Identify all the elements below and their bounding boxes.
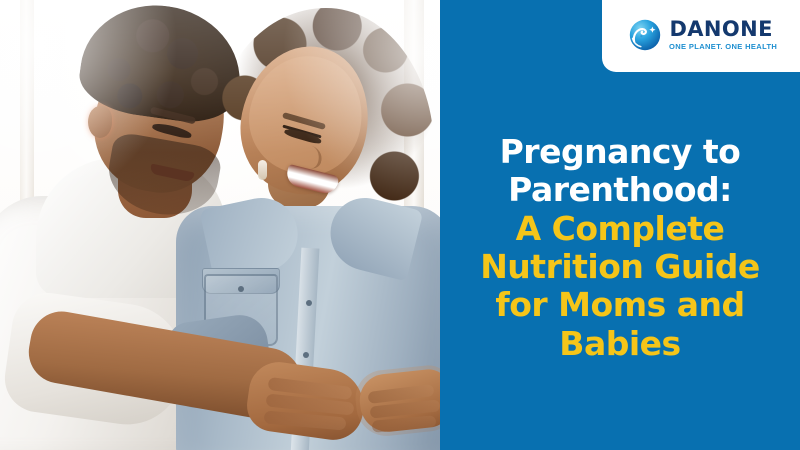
headline-line-5: for Moms and — [454, 286, 786, 324]
man-ear — [88, 106, 112, 138]
globe-icon — [628, 18, 662, 52]
headline-line-2: Parenthood: — [454, 171, 786, 209]
headline-line-4: Nutrition Guide — [454, 248, 786, 286]
headline-line-3: A Complete — [454, 210, 786, 248]
logo-brand-name: DANONE — [669, 19, 772, 40]
logo-tagline: ONE PLANET. ONE HEALTH — [669, 43, 777, 50]
couple-photo — [0, 0, 440, 450]
denim-button — [238, 286, 244, 292]
woman-earring — [258, 160, 267, 180]
page-title: Pregnancy to Parenthood: A Complete Nutr… — [440, 77, 800, 373]
denim-button — [306, 300, 312, 306]
denim-button — [303, 352, 309, 358]
headline-line-1: Pregnancy to — [454, 133, 786, 171]
headline-line-6: Babies — [454, 325, 786, 363]
promo-banner: DANONE ONE PLANET. ONE HEALTH Pregnancy … — [0, 0, 800, 450]
photo-stage — [0, 0, 440, 450]
logo-wordmark: DANONE ONE PLANET. ONE HEALTH — [669, 19, 775, 50]
danone-logo[interactable]: DANONE ONE PLANET. ONE HEALTH — [602, 0, 800, 72]
headline-panel: DANONE ONE PLANET. ONE HEALTH Pregnancy … — [440, 0, 800, 450]
